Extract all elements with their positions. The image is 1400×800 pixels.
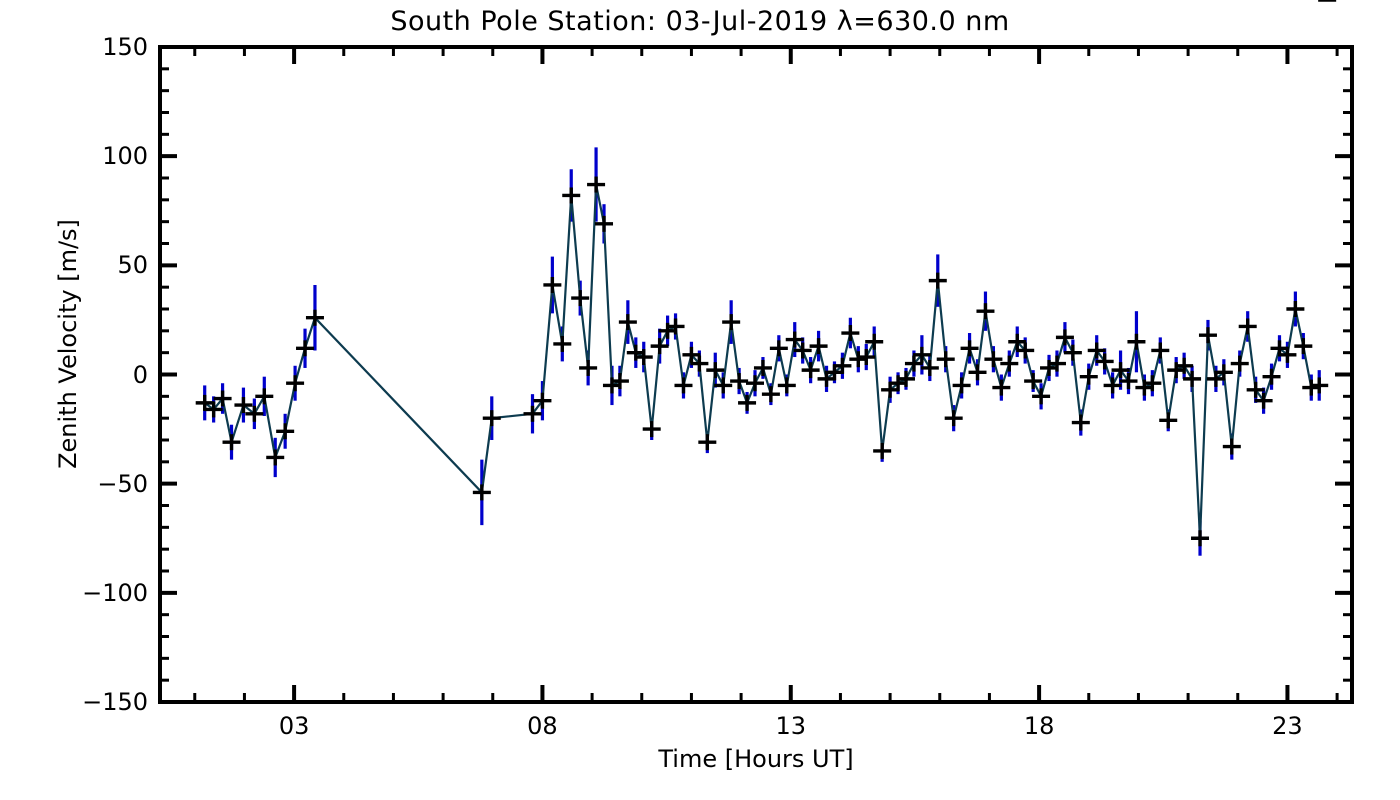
data-point-marker xyxy=(969,364,987,380)
data-point-marker xyxy=(1080,369,1098,385)
data-point-marker xyxy=(483,410,501,426)
data-point-marker xyxy=(1056,329,1074,345)
data-point-marker xyxy=(619,314,637,330)
data-point-marker xyxy=(266,449,284,465)
data-point-marker xyxy=(810,338,828,354)
data-point-marker xyxy=(873,443,891,459)
errorbar-group xyxy=(205,0,1327,556)
data-point-marker xyxy=(214,391,232,407)
data-point-marker xyxy=(1032,388,1050,404)
data-point-marker xyxy=(296,340,314,356)
data-point-marker xyxy=(223,434,241,450)
data-point-marker xyxy=(1072,415,1090,431)
data-point-marker xyxy=(1223,439,1241,455)
data-point-marker xyxy=(1000,356,1018,372)
data-point-marker xyxy=(714,377,732,393)
data-point-marker xyxy=(286,375,304,391)
data-point-marker xyxy=(1239,318,1257,334)
data-marker-group xyxy=(196,0,1336,546)
data-point-marker xyxy=(953,377,971,393)
data-point-marker xyxy=(562,187,580,203)
data-point-marker xyxy=(1024,373,1042,389)
data-point-marker xyxy=(553,336,571,352)
data-point-marker xyxy=(595,216,613,232)
data-point-marker xyxy=(1199,327,1217,343)
data-point-marker xyxy=(1104,377,1122,393)
data-point-marker xyxy=(255,388,273,404)
data-point-marker xyxy=(543,277,561,293)
data-point-marker xyxy=(276,423,294,439)
data-point-marker xyxy=(778,377,796,393)
data-point-marker xyxy=(571,290,589,306)
data-point-marker xyxy=(1191,530,1209,546)
data-point-marker xyxy=(674,377,692,393)
data-point-marker xyxy=(722,314,740,330)
data-point-marker xyxy=(992,380,1010,396)
data-point-marker xyxy=(945,410,963,426)
data-point-marker xyxy=(524,406,542,422)
data-point-marker xyxy=(1263,369,1281,385)
data-point-marker xyxy=(802,362,820,378)
data-point-marker xyxy=(976,303,994,319)
chart-figure: South Pole Station: 03-Jul-2019 λ=630.0 … xyxy=(0,0,1400,800)
data-point-marker xyxy=(746,375,764,391)
data-point-marker xyxy=(770,340,788,356)
data-point-marker xyxy=(579,360,597,376)
data-point-marker xyxy=(1064,345,1082,361)
data-point-marker xyxy=(754,360,772,376)
data-point-marker xyxy=(1127,334,1145,350)
data-point-marker xyxy=(1151,342,1169,358)
data-point-marker xyxy=(651,338,669,354)
data-point-marker xyxy=(984,351,1002,367)
data-point-marker xyxy=(762,386,780,402)
data-point-marker xyxy=(1286,301,1304,317)
data-point-marker xyxy=(706,362,724,378)
data-point-marker xyxy=(730,373,748,389)
data-point-marker xyxy=(929,273,947,289)
data-point-marker xyxy=(698,434,716,450)
data-point-marker xyxy=(1294,338,1312,354)
data-point-marker xyxy=(1231,356,1249,372)
plot-canvas xyxy=(0,0,1400,800)
data-point-marker xyxy=(1159,412,1177,428)
data-point-marker xyxy=(738,395,756,411)
data-point-marker xyxy=(937,351,955,367)
data-point-marker xyxy=(587,177,605,193)
data-point-marker xyxy=(533,393,551,409)
data-point-marker xyxy=(961,340,979,356)
data-point-marker xyxy=(841,325,859,341)
data-point-marker xyxy=(865,334,883,350)
data-point-marker xyxy=(643,421,661,437)
